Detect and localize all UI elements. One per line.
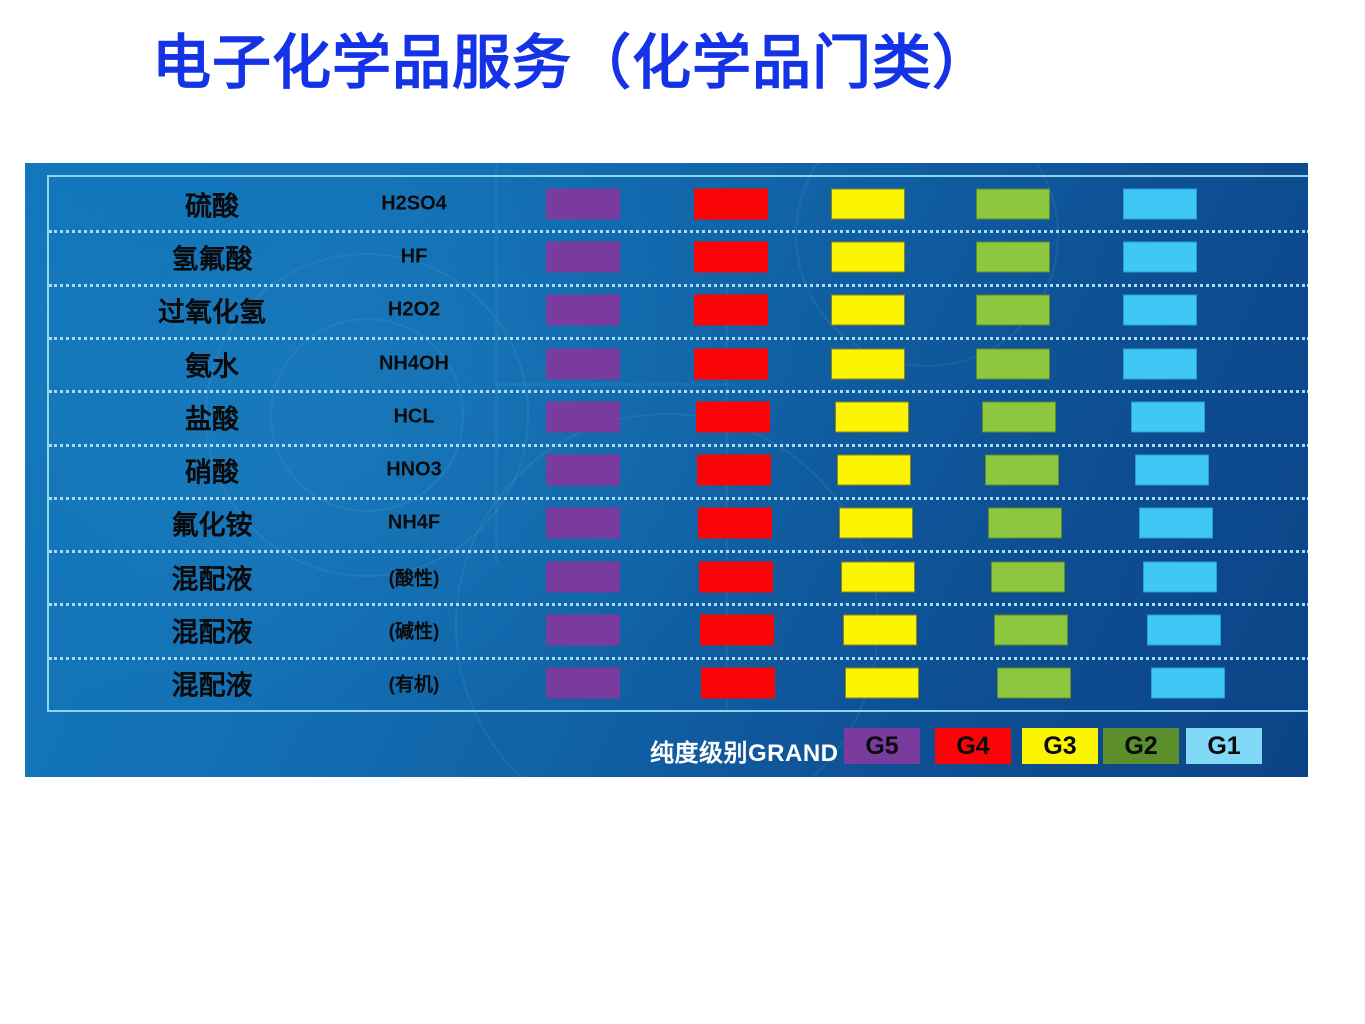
grade-bar-g3 [845, 668, 919, 699]
content-panel: 硫酸H2SO4氢氟酸HF过氧化氢H2O2氨水NH4OH盐酸HCL硝酸HNO3氟化… [25, 163, 1308, 777]
table-row: 硝酸HNO3 [49, 444, 1308, 497]
chemical-formula: NH4F [314, 512, 514, 535]
grade-bar-g1 [1139, 508, 1213, 539]
grade-bar-g3 [831, 295, 905, 326]
chemical-formula: HF [314, 245, 514, 268]
grade-bar-g1 [1147, 615, 1221, 646]
grade-bar-g5 [546, 401, 620, 432]
chemical-name: 氨水 [107, 344, 317, 383]
grade-bar-g3 [837, 455, 911, 486]
grade-bar-g4 [698, 508, 772, 539]
row-separator [49, 337, 1308, 340]
chemical-formula: HCL [314, 405, 514, 428]
chemical-name: 混配液 [107, 611, 317, 650]
grade-bar-g2 [985, 455, 1059, 486]
chemical-name: 氟化铵 [107, 504, 317, 543]
row-separator [49, 230, 1308, 233]
table-row: 硫酸H2SO4 [49, 177, 1308, 230]
grade-bar-g1 [1123, 295, 1197, 326]
row-separator [49, 284, 1308, 287]
grade-bar-g2 [976, 241, 1050, 272]
grade-bar-g2 [976, 348, 1050, 379]
table-row: 氢氟酸HF [49, 230, 1308, 283]
grade-bar-g2 [982, 401, 1056, 432]
grade-bar-g5 [546, 561, 620, 592]
legend-chip-g3: G3 [1022, 728, 1098, 764]
chemical-formula: (碱性) [314, 617, 514, 644]
grade-bar-g5 [546, 348, 620, 379]
grade-bar-g4 [696, 401, 770, 432]
grade-bar-g3 [839, 508, 913, 539]
chemical-name: 硝酸 [107, 451, 317, 490]
grade-bar-g1 [1135, 455, 1209, 486]
grade-bar-g2 [991, 561, 1065, 592]
grade-bar-g3 [831, 348, 905, 379]
row-separator [49, 444, 1308, 447]
grade-bar-g2 [976, 295, 1050, 326]
grade-bar-g4 [694, 348, 768, 379]
row-separator [49, 603, 1308, 606]
legend-chip-g5: G5 [844, 728, 920, 764]
grade-bar-g2 [988, 508, 1062, 539]
row-separator [49, 390, 1308, 393]
legend-title: 纯度级别GRAND [650, 733, 839, 768]
page-title: 电子化学品服务（化学品门类） [152, 34, 992, 93]
grade-bar-g1 [1151, 668, 1225, 699]
grade-bar-g1 [1123, 348, 1197, 379]
grade-bar-g1 [1123, 241, 1197, 272]
grade-bar-g3 [841, 561, 915, 592]
grade-bar-g5 [546, 295, 620, 326]
chemical-formula: H2SO4 [314, 192, 514, 215]
grade-bar-g5 [546, 188, 620, 219]
grade-bar-g4 [699, 561, 773, 592]
grade-bar-g4 [694, 241, 768, 272]
chemicals-table: 硫酸H2SO4氢氟酸HF过氧化氢H2O2氨水NH4OH盐酸HCL硝酸HNO3氟化… [47, 175, 1308, 712]
grade-bar-g4 [694, 188, 768, 219]
row-separator [49, 497, 1308, 500]
grade-bar-g3 [831, 188, 905, 219]
table-row: 混配液(酸性) [49, 550, 1308, 603]
legend-chip-g1: G1 [1186, 728, 1262, 764]
table-row: 过氧化氢H2O2 [49, 284, 1308, 337]
table-row: 盐酸HCL [49, 390, 1308, 443]
table-row: 氟化铵NH4F [49, 497, 1308, 550]
legend-chip-g4: G4 [935, 728, 1011, 764]
table-row: 混配液(碱性) [49, 603, 1308, 656]
chemical-name: 混配液 [107, 664, 317, 703]
grade-bar-g2 [976, 188, 1050, 219]
row-separator [49, 657, 1308, 660]
grade-bar-g1 [1123, 188, 1197, 219]
grade-bar-g5 [546, 508, 620, 539]
chemical-name: 盐酸 [107, 397, 317, 436]
table-row: 混配液(有机) [49, 657, 1308, 710]
grade-bar-g4 [701, 668, 775, 699]
chemical-name: 氢氟酸 [107, 237, 317, 276]
grade-bar-g3 [843, 615, 917, 646]
grade-bar-g4 [697, 455, 771, 486]
chemical-formula: (有机) [314, 670, 514, 697]
grade-bar-g3 [835, 401, 909, 432]
grade-bar-g5 [546, 668, 620, 699]
chemical-name: 硫酸 [107, 184, 317, 223]
grade-bar-g2 [997, 668, 1071, 699]
grade-bar-g4 [700, 615, 774, 646]
legend: 纯度级别GRAND G5G4G3G2G1 [25, 724, 1308, 770]
grade-bar-g5 [546, 455, 620, 486]
grade-bar-g5 [546, 615, 620, 646]
chemical-formula: NH4OH [314, 352, 514, 375]
chemical-formula: (酸性) [314, 563, 514, 590]
grade-bar-g5 [546, 241, 620, 272]
grade-bar-g2 [994, 615, 1068, 646]
chemical-name: 混配液 [107, 557, 317, 596]
legend-chip-g2: G2 [1103, 728, 1179, 764]
chemical-formula: H2O2 [314, 299, 514, 322]
grade-bar-g1 [1143, 561, 1217, 592]
grade-bar-g4 [694, 295, 768, 326]
chemical-name: 过氧化氢 [107, 291, 317, 330]
grade-bar-g3 [831, 241, 905, 272]
grade-bar-g1 [1131, 401, 1205, 432]
chemical-formula: HNO3 [314, 459, 514, 482]
row-separator [49, 550, 1308, 553]
table-row: 氨水NH4OH [49, 337, 1308, 390]
